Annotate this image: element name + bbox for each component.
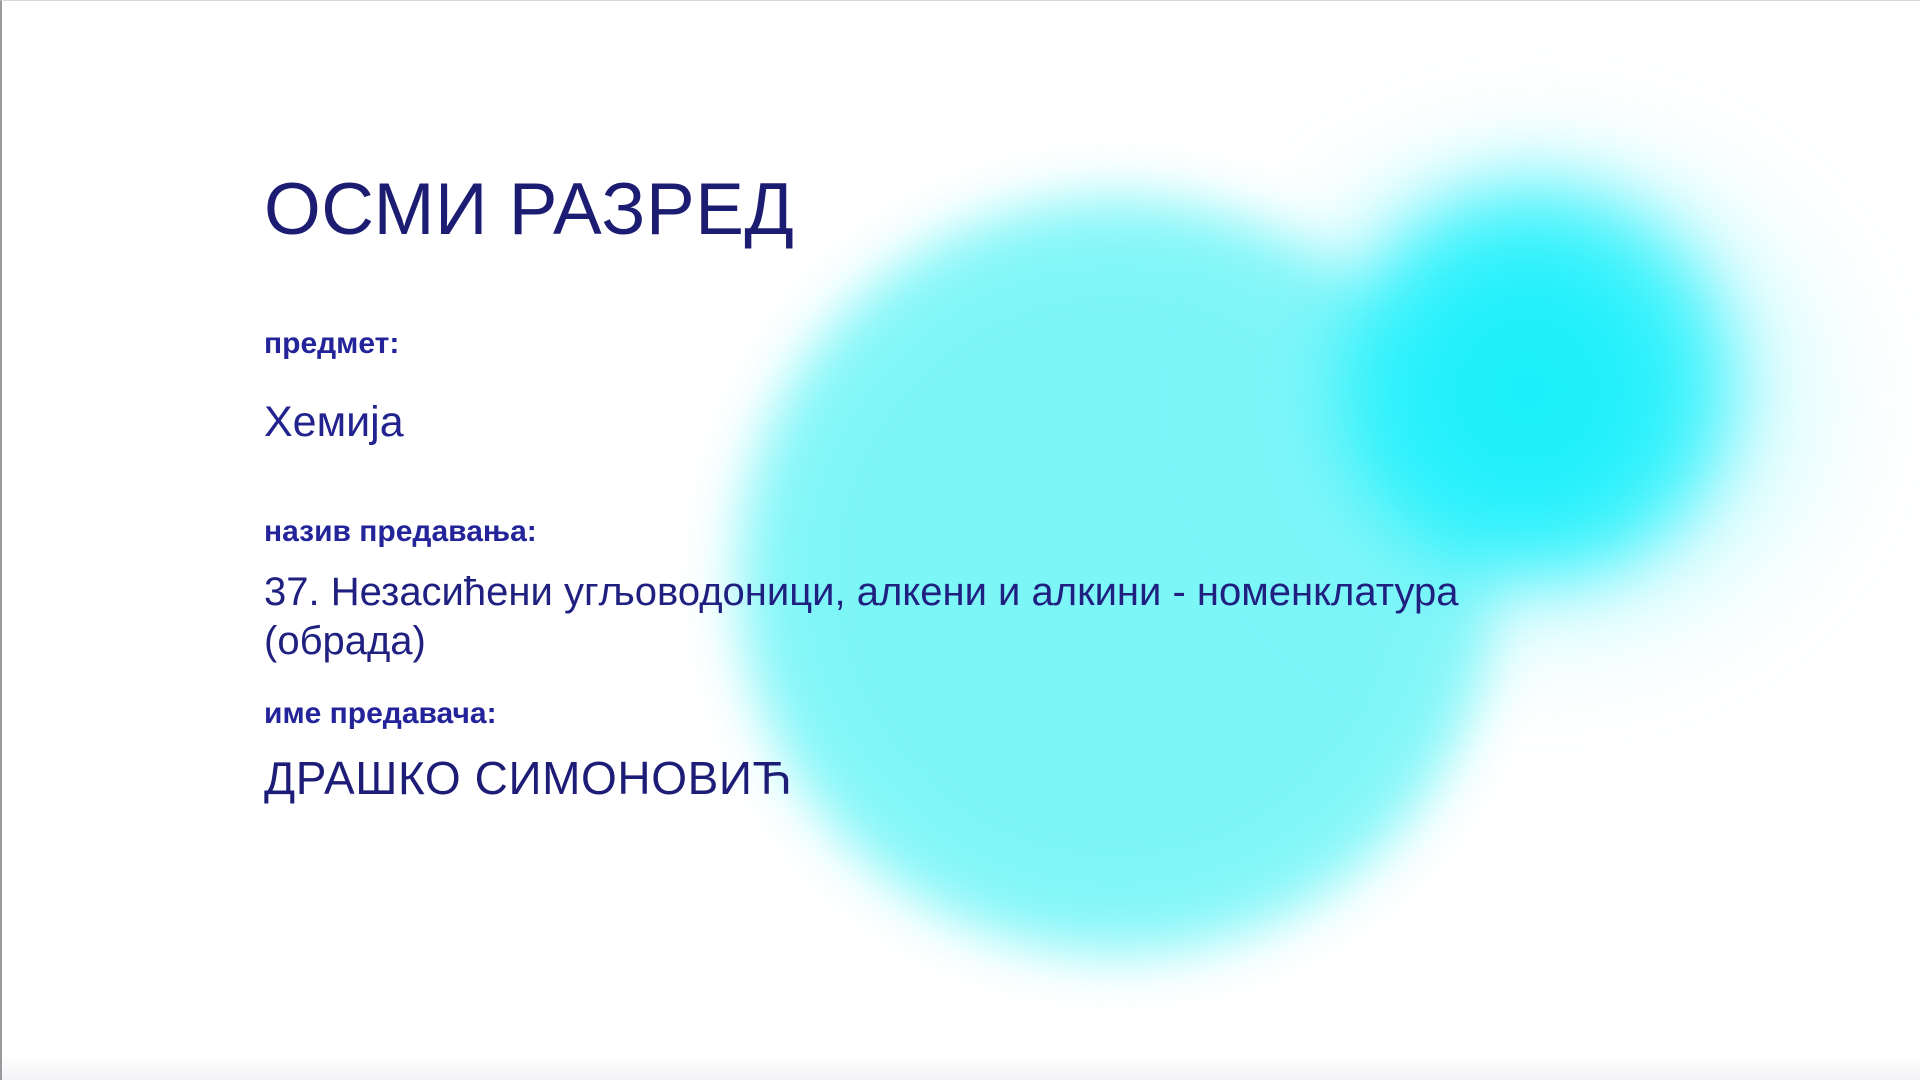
page-title: ОСМИ РАЗРЕД	[264, 173, 794, 246]
lecture-title-value: 37. Незасићени угљоводоници, алкени и ал…	[264, 568, 1594, 666]
bottom-edge-band	[2, 1054, 1920, 1080]
cyan-blob-accent-icon	[1332, 176, 1742, 586]
lecture-title-label: назив предавања:	[264, 517, 537, 547]
subject-value: Хемија	[264, 401, 404, 444]
teacher-name-label: име предавача:	[264, 699, 497, 729]
subject-label: предмет:	[264, 329, 399, 359]
teacher-name-value: ДРАШКО СИМОНОВИЋ	[264, 755, 792, 801]
lecture-title-slide: ОСМИ РАЗРЕД предмет: Хемија назив предав…	[0, 0, 1920, 1080]
